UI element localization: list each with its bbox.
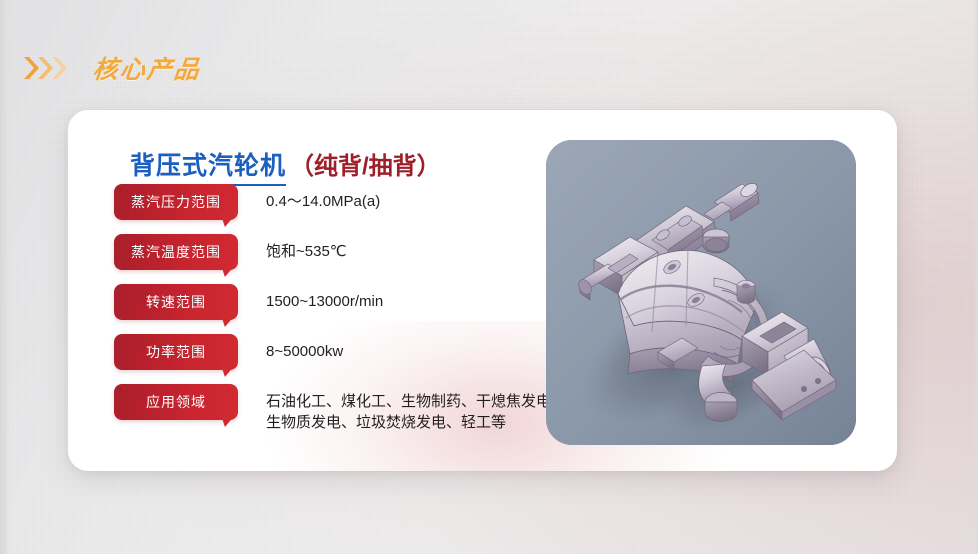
spec-row: 蒸汽温度范围 饱和~535℃ [114,234,574,284]
page-title: 核心产品 [91,50,203,86]
right-edge-strip [973,0,978,554]
chip-tail-icon [221,365,235,377]
spec-label-chip: 蒸汽压力范围 [114,184,238,220]
spec-row: 功率范围 8~50000kw [114,334,574,384]
double-chevron-right-icon-3 [50,55,67,81]
product-card: 背压式汽轮机 （纯背/抽背） 蒸汽压力范围 0.4～14.0MPa(a) 蒸汽温… [68,110,897,471]
product-title-sub: （纯背/抽背） [290,146,441,181]
left-edge-strip [0,0,9,554]
spec-value: 8~50000kw [266,334,343,362]
spec-label: 蒸汽温度范围 [131,245,221,259]
spec-row: 应用领域 石油化工、煤化工、生物制药、干熄焦发电、 生物质发电、垃圾焚烧发电、轻… [114,384,574,434]
spec-label-chip: 转速范围 [114,284,238,320]
spec-label: 功率范围 [146,345,206,359]
spec-label-chip: 功率范围 [114,334,238,370]
spec-value: 1500~13000r/min [266,284,383,312]
product-title-row: 背压式汽轮机 （纯背/抽背） [130,146,441,186]
section-header: 核心产品 [22,48,201,88]
spec-value: 饱和~535℃ [266,234,347,262]
spec-label-chip: 应用领域 [114,384,238,420]
spec-value: 0.4～14.0MPa(a) [266,184,380,212]
spec-label: 转速范围 [146,295,206,309]
spec-label: 应用领域 [146,395,206,409]
chip-tail-icon [221,215,235,227]
spec-list: 蒸汽压力范围 0.4～14.0MPa(a) 蒸汽温度范围 饱和~535℃ 转速范… [114,184,574,434]
spec-label-chip: 蒸汽温度范围 [114,234,238,270]
spec-value: 石油化工、煤化工、生物制药、干熄焦发电、 生物质发电、垃圾焚烧发电、轻工等 [266,384,566,433]
product-title-main: 背压式汽轮机 [130,146,286,186]
product-image [546,140,856,445]
chip-tail-icon [221,415,235,427]
chip-tail-icon [221,265,235,277]
chip-tail-icon [221,315,235,327]
spec-row: 转速范围 1500~13000r/min [114,284,574,334]
spec-row: 蒸汽压力范围 0.4～14.0MPa(a) [114,184,574,234]
spec-label: 蒸汽压力范围 [131,195,221,209]
